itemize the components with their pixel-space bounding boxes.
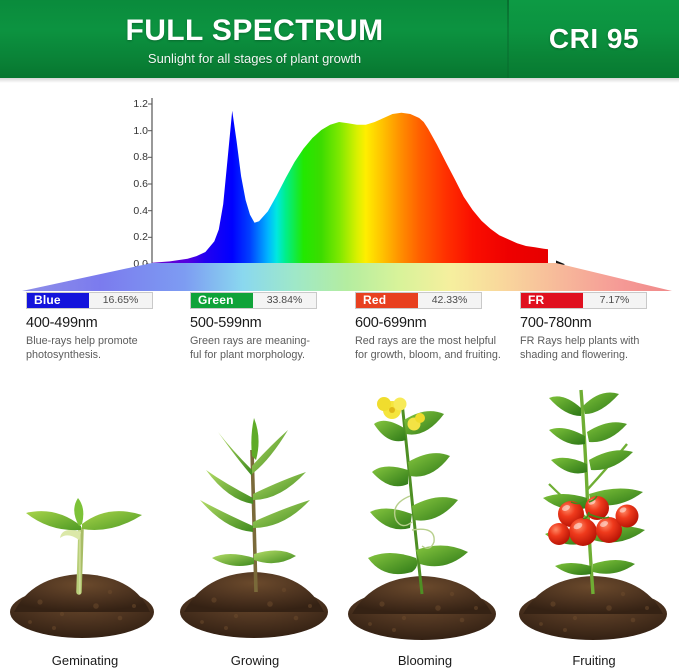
leaf — [374, 421, 406, 441]
leaf — [368, 553, 417, 574]
leaf — [416, 545, 468, 566]
header-banner: FULL SPECTRUM Sunlight for all stages of… — [0, 0, 679, 78]
plant-illustration-young — [170, 380, 340, 645]
stem — [79, 530, 81, 592]
stage-label-blooming: Blooming — [340, 653, 510, 668]
tomato — [616, 505, 639, 528]
leaf — [370, 508, 412, 529]
badge-percent-red: 42.33% — [418, 293, 481, 308]
y-tick-label: 0.6 — [122, 178, 148, 190]
badge-label-red: Red — [356, 293, 418, 308]
legend-desc-line: ful for plant morphology. — [190, 349, 333, 363]
stage-label-geminating: Geminating — [0, 653, 170, 668]
page-title: FULL SPECTRUM — [0, 14, 509, 48]
spectrum-beam-shape — [22, 263, 672, 291]
legend-item-red[interactable]: Red 42.33% 600-699nm Red rays are the mo… — [355, 292, 515, 362]
growth-stage-geminating: Geminating — [0, 380, 170, 672]
stage-label-growing: Growing — [170, 653, 340, 668]
badge-label-green: Green — [191, 293, 253, 308]
badge-green: Green 33.84% — [190, 292, 317, 309]
badge-label-blue: Blue — [27, 293, 89, 308]
stage-label-fruiting: Fruiting — [509, 653, 679, 668]
badge-fr: FR 7.17% — [520, 292, 647, 309]
legend-desc-line: shading and flowering. — [520, 349, 668, 363]
leaf-center — [74, 498, 83, 526]
plant-illustration-fruiting — [509, 380, 679, 645]
page-subtitle: Sunlight for all stages of plant growth — [0, 51, 509, 66]
cri-badge: CRI 95 — [509, 23, 679, 55]
legend-desc-line: Blue-rays help promote — [26, 335, 169, 349]
header-dropshadow — [0, 78, 679, 83]
plant-illustration-seedling — [0, 380, 170, 645]
leaf — [212, 554, 254, 566]
y-tick-label: 1.0 — [122, 125, 148, 137]
tomato — [548, 523, 570, 545]
main-stem — [581, 390, 593, 594]
leaf — [206, 470, 253, 504]
spectrum-beam — [0, 263, 679, 293]
leaf-left — [26, 511, 81, 530]
leaf — [408, 453, 450, 476]
legend-range-green: 500-599nm — [190, 315, 342, 331]
badge-percent-green: 33.84% — [253, 293, 316, 308]
badge-blue: Blue 16.65% — [26, 292, 153, 309]
y-tick-label: 1.2 — [122, 98, 148, 110]
y-tick-label: 0.8 — [122, 151, 148, 163]
leaf — [412, 497, 458, 520]
leaf — [253, 500, 310, 528]
spectrum-chart: 1.2 1.0 0.8 0.6 0.4 0.2 0.0 400 500 600 … — [0, 88, 679, 288]
legend-range-red: 600-699nm — [355, 315, 515, 331]
growth-stage-blooming: Blooming — [340, 380, 510, 672]
growth-stage-fruiting: Fruiting — [509, 380, 679, 672]
leaf — [253, 472, 306, 500]
leaf-apex — [251, 418, 258, 460]
legend-desc-line: Red rays are the most helpful — [355, 335, 511, 349]
spd-curve-fill — [152, 111, 548, 264]
leaf-right — [82, 511, 142, 530]
y-tick-label: 0.4 — [122, 205, 148, 217]
leaf — [218, 432, 252, 476]
spectrum-chart-svg — [0, 88, 679, 288]
leaf — [254, 550, 296, 563]
spectrum-beam-svg — [0, 263, 679, 293]
y-tick-label: 0.2 — [122, 231, 148, 243]
legend-item-green[interactable]: Green 33.84% 500-599nm Green rays are me… — [190, 292, 342, 362]
badge-percent-fr: 7.17% — [583, 293, 646, 308]
growth-stage-growing: Growing — [170, 380, 340, 672]
legend-description-green: Green rays are meaning- ful for plant mo… — [190, 335, 333, 362]
legend-description-fr: FR Rays help plants with shading and flo… — [520, 335, 668, 362]
legend-item-blue[interactable]: Blue 16.65% 400-499nm Blue-rays help pro… — [26, 292, 178, 362]
legend-desc-line: for growth, bloom, and fruiting. — [355, 349, 511, 363]
leaf — [372, 466, 408, 486]
cotyledon — [60, 530, 81, 540]
leaf — [200, 500, 253, 532]
wavelength-legend: Blue 16.65% 400-499nm Blue-rays help pro… — [0, 292, 679, 378]
infographic-root: FULL SPECTRUM Sunlight for all stages of… — [0, 0, 679, 672]
legend-item-fr[interactable]: FR 7.17% 700-780nm FR Rays help plants w… — [520, 292, 670, 362]
growth-stages: Geminating — [0, 380, 679, 672]
plant-illustration-flowering — [340, 380, 510, 645]
legend-range-fr: 700-780nm — [520, 315, 670, 331]
tomato — [569, 518, 597, 546]
legend-description-blue: Blue-rays help promote photosynthesis. — [26, 335, 169, 362]
legend-desc-line: Green rays are meaning- — [190, 335, 333, 349]
badge-red: Red 42.33% — [355, 292, 482, 309]
legend-range-blue: 400-499nm — [26, 315, 178, 331]
legend-desc-line: FR Rays help plants with — [520, 335, 668, 349]
legend-desc-line: photosynthesis. — [26, 349, 169, 363]
badge-label-fr: FR — [521, 293, 583, 308]
badge-percent-blue: 16.65% — [89, 293, 152, 308]
legend-description-red: Red rays are the most helpful for growth… — [355, 335, 511, 362]
